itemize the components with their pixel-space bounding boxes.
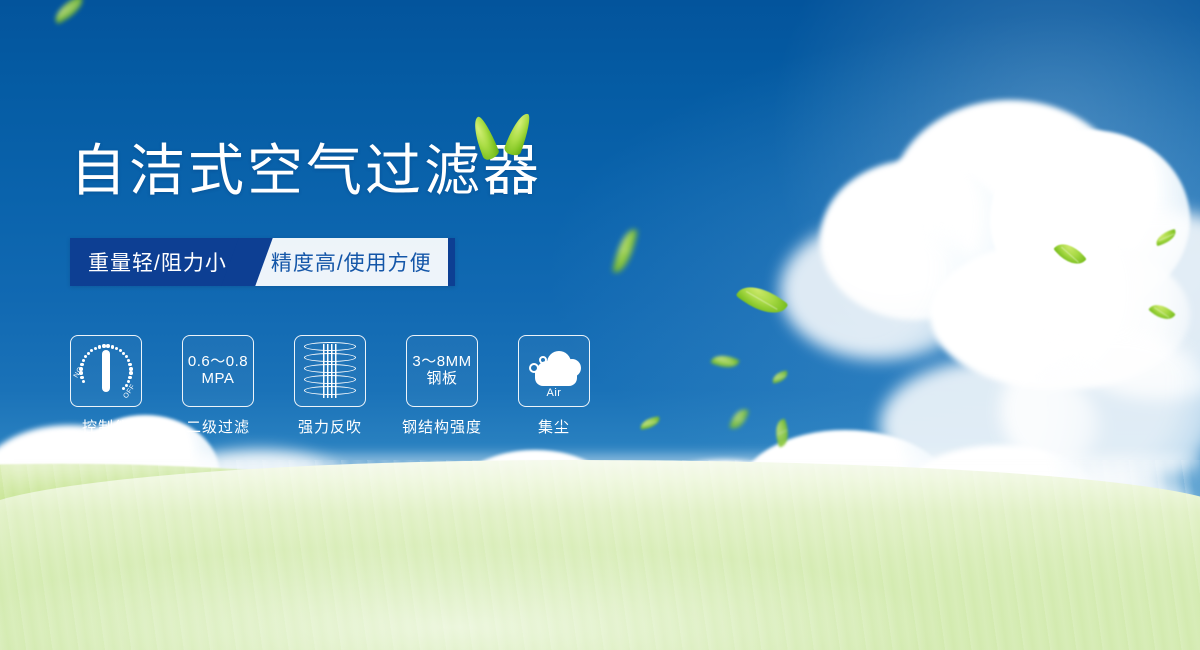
title-leaf-pair [470,108,540,162]
pressure-text-icon: 0.6～0.8 MPA [188,354,248,388]
disc-ring [304,364,356,373]
feature-label: 控制仪 [82,416,130,437]
feature-item-dust-collection[interactable]: Air 集尘 [518,335,590,437]
gauge-icon: NO OFF [76,341,136,401]
air-cloud-icon: Air [525,345,583,397]
steel-thickness: 3～8MM [412,353,471,370]
feature-item-two-stage-filtration[interactable]: 0.6～0.8 MPA 二级过滤 [182,335,254,437]
gauge-tick-dot [80,376,84,380]
feature-label: 集尘 [538,416,570,437]
feature-list: NO OFF 控制仪 0.6～0.8 MPA 二级过滤 [70,335,590,437]
feature-icon-box: NO OFF [70,335,142,407]
feature-label: 二级过滤 [186,416,250,437]
gauge-tick-dot [127,359,131,363]
gauge-tick-dot [82,359,86,363]
gauge-tick-dot [111,345,115,349]
steel-material: 钢板 [412,371,471,388]
gauge-tick-dot [106,344,110,348]
feature-item-steel-structure-strength[interactable]: 3～8MM 钢板 钢结构强度 [406,335,478,437]
gauge-tick-dot [102,344,106,348]
pressure-value: 0.6～0.8 [188,353,248,370]
gauge-tick-dot [82,380,86,384]
stacked-discs-icon [304,342,356,400]
gauge-tick-dot [115,347,119,351]
feature-item-control-instrument[interactable]: NO OFF 控制仪 [70,335,142,437]
gauge-tick-dot [128,376,132,380]
gauge-tick-dot [128,363,132,367]
gauge-tick-dot [94,347,98,351]
feature-label: 强力反吹 [298,416,362,437]
subtitle-end-cap [448,238,455,286]
disc-ring [304,342,356,351]
feature-icon-box: 0.6～0.8 MPA [182,335,254,407]
gauge-tick-dot [129,371,133,375]
gauge-tick-dot [98,345,102,349]
feature-item-powerful-backflush[interactable]: 强力反吹 [294,335,366,437]
subtitle-bar: 重量轻/阻力小 精度高/使用方便 [70,238,455,286]
subtitle-right-segment: 精度高/使用方便 [241,238,448,286]
gauge-tick-dot [84,355,88,359]
gauge-tick-dot [129,367,133,371]
disc-ring [304,353,356,362]
product-banner: 自洁式空气过滤器 重量轻/阻力小 精度高/使用方便 NO OFF 控制仪 0.6… [0,0,1200,650]
gauge-tick-dot [80,363,84,367]
feature-label: 钢结构强度 [402,416,482,437]
leaf-icon [468,114,500,161]
steel-text-icon: 3～8MM 钢板 [412,354,471,388]
disc-ring [304,375,356,384]
disc-ring [304,386,356,395]
grass-foreground [0,460,1200,650]
subtitle-left-segment: 重量轻/阻力小 [70,238,247,286]
gauge-tick-dot [87,352,91,356]
feature-icon-box: Air [518,335,590,407]
feature-icon-box [294,335,366,407]
gauge-tick-dot [125,355,129,359]
gauge-tick-dot [79,367,83,371]
feature-icon-box: 3～8MM 钢板 [406,335,478,407]
gauge-needle-icon [102,350,110,392]
gauge-tick-dot [79,371,83,375]
gauge-tick-dot [90,349,94,353]
leaf-icon [503,110,534,157]
cloud-base [535,371,577,386]
pressure-unit: MPA [188,371,248,388]
air-label: Air [525,387,583,399]
